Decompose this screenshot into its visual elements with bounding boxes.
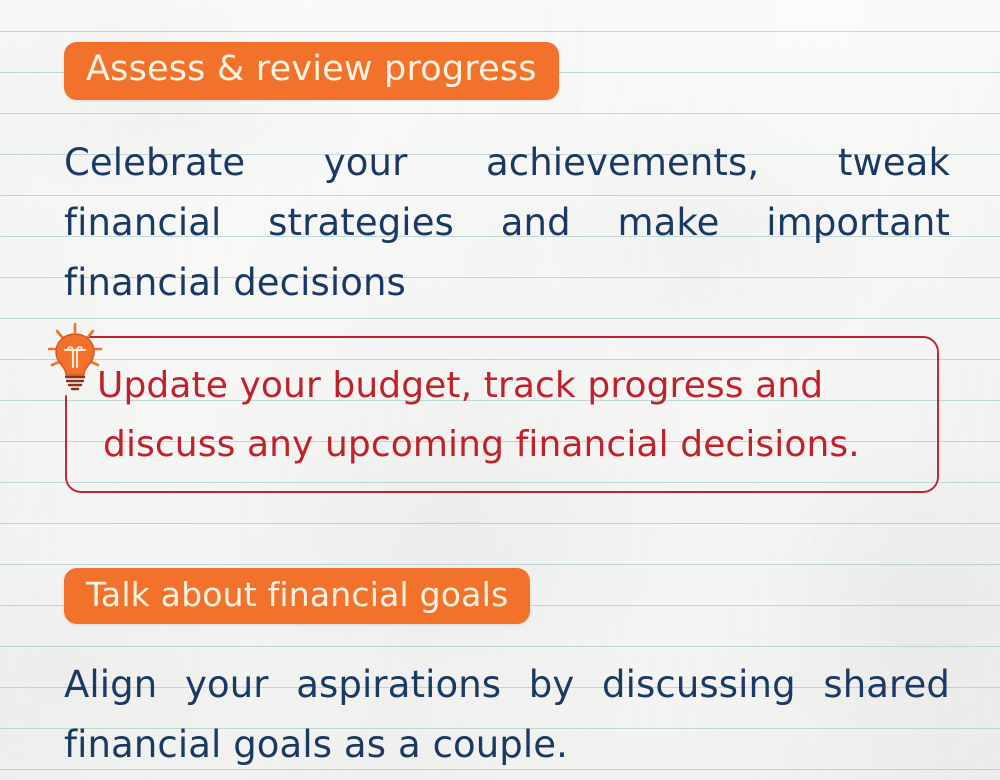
body-line: financial strategies and make important <box>64 193 950 253</box>
section-body-assess-review-progress: Celebrate your achievements, tweak finan… <box>64 133 950 313</box>
notebook-page: Assess & review progress Celebrate your … <box>0 0 1000 780</box>
body-line: financial decisions <box>64 253 950 313</box>
callout-line: discuss any upcoming financial decisions… <box>97 415 925 474</box>
body-line: Align your aspirations by discussing sha… <box>64 655 950 715</box>
tip-callout-box: Update your budget, track progress and d… <box>65 336 947 493</box>
section-heading-talk-about-financial-goals: Talk about financial goals <box>64 568 530 624</box>
body-line: financial goals as a couple. <box>64 715 950 775</box>
section-heading-assess-review-progress: Assess & review progress <box>64 42 559 100</box>
callout-text: Update your budget, track progress and d… <box>97 356 925 474</box>
body-line: Celebrate your achievements, tweak <box>64 133 950 193</box>
callout-line: Update your budget, track progress and <box>97 356 925 415</box>
section-body-talk-about-financial-goals: Align your aspirations by discussing sha… <box>64 655 950 775</box>
lightbulb-icon <box>43 320 107 392</box>
